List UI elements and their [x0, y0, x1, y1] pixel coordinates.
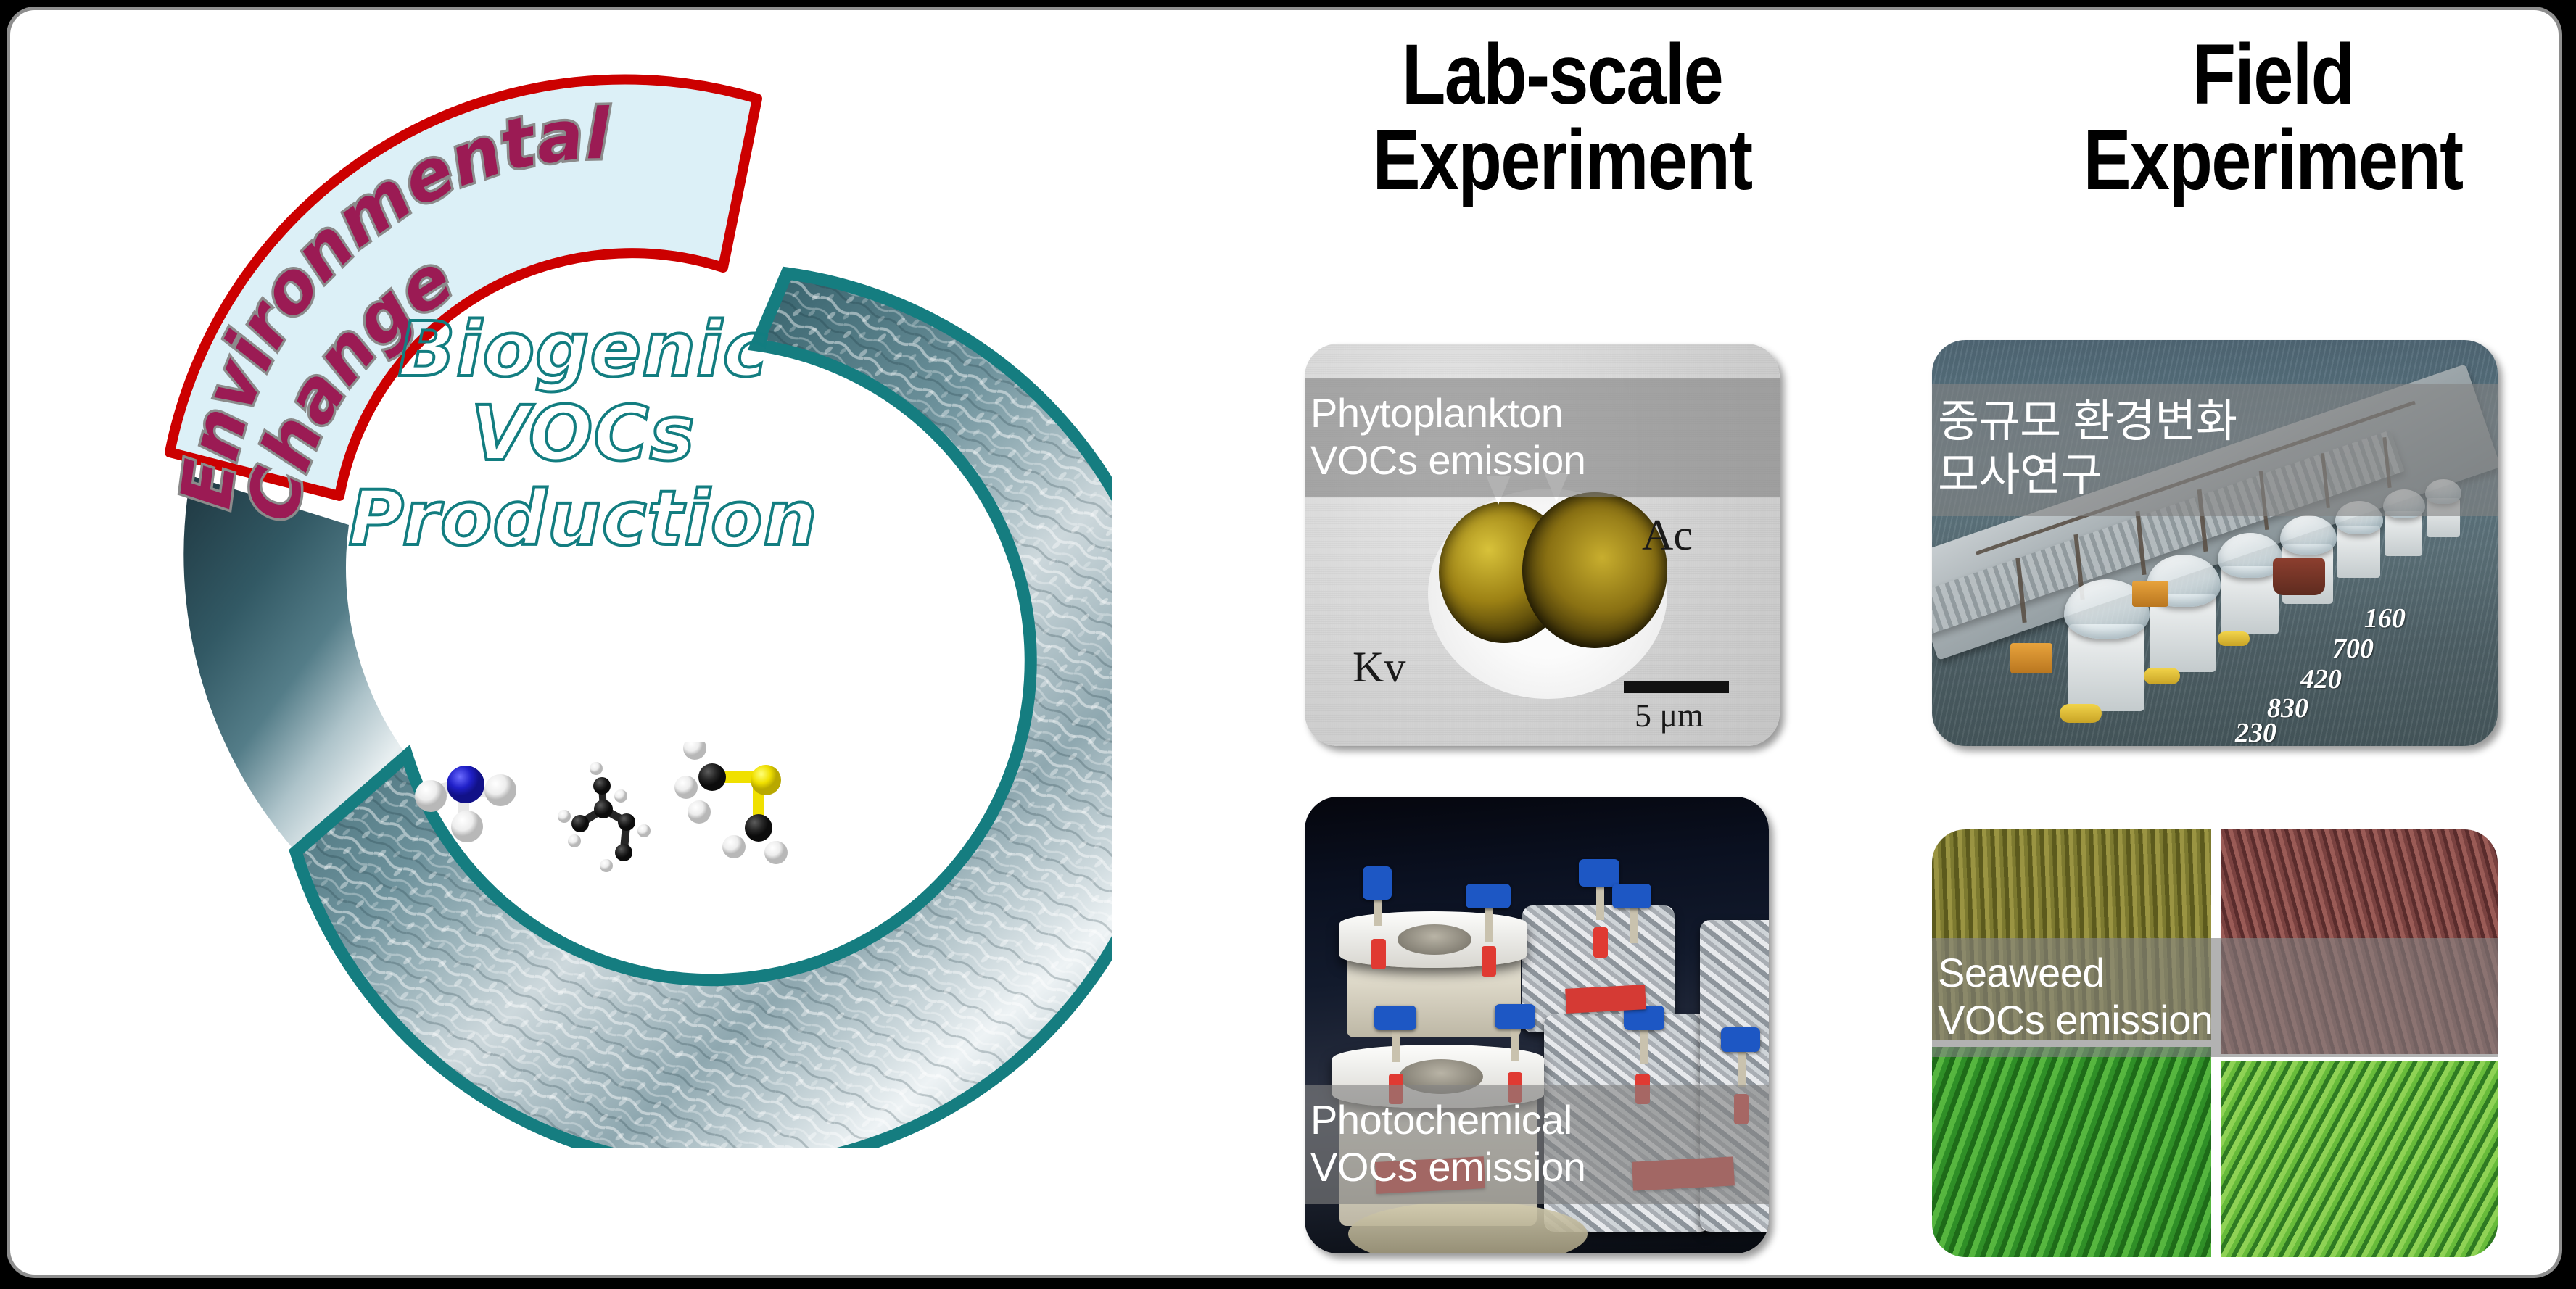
treatment-number: 610	[2202, 740, 2243, 746]
caption-line1: Phytoplankton	[1310, 390, 1780, 437]
valve-stem	[1640, 1027, 1648, 1064]
scale-bar	[1624, 681, 1729, 693]
valve-stem	[1596, 884, 1604, 920]
panel-phytoplankton[interactable]: Kv Ac 5 μm Phytoplankton VOCs emission	[1305, 344, 1780, 746]
red-fitting	[1371, 939, 1386, 969]
crate	[2010, 643, 2052, 673]
lab-title-line2: Experiment	[1233, 117, 1891, 203]
valve-stem	[1511, 1026, 1519, 1061]
lab-title-line1: Lab-scale	[1233, 32, 1891, 117]
molecule-group	[409, 742, 815, 895]
treatment-number: 160	[2364, 602, 2406, 634]
blue-valve	[1721, 1027, 1760, 1052]
caption-line1: Seaweed	[1938, 950, 2498, 997]
label-ac: Ac	[1642, 510, 1693, 560]
label-kv: Kv	[1353, 642, 1405, 692]
sample-label	[1565, 985, 1646, 1014]
treatment-number: 700	[2332, 633, 2374, 665]
caption-phytoplankton: Phytoplankton VOCs emission	[1305, 378, 1780, 497]
scale-bar-caption: 5 μm	[1635, 696, 1704, 734]
caption-line2: VOCs emission	[1310, 1144, 1769, 1191]
reactor-port	[1398, 924, 1471, 955]
caption-line1: 중규모 환경변화	[1938, 395, 2498, 449]
panel-mesocosm[interactable]: 160 700 420 830 230 610 690 290 790 ppmv…	[1932, 340, 2498, 746]
seaweed-photo-sea-lettuce	[1932, 1047, 2211, 1257]
blue-valve	[1612, 884, 1651, 908]
blue-valve	[1374, 1006, 1416, 1030]
seaweed-photo-green-mat	[2221, 1061, 2498, 1257]
caption-mesocosm: 중규모 환경변화 모사연구	[1932, 384, 2498, 516]
molecule-isoprene	[558, 762, 651, 872]
caption-line1: Photochemical	[1310, 1097, 1769, 1144]
caption-line2: VOCs emission	[1938, 997, 2498, 1044]
field-title-line2: Experiment	[1968, 117, 2559, 203]
panel-seaweed[interactable]: Seaweed VOCs emission	[1932, 829, 2498, 1257]
field-title-line1: Field	[1968, 32, 2559, 117]
valve-stem	[1630, 905, 1638, 943]
caption-line2: 모사연구	[1938, 449, 2498, 502]
caption-seaweed: Seaweed VOCs emission	[1932, 938, 2498, 1057]
valve-stem	[1392, 1027, 1400, 1062]
blue-valve	[1363, 866, 1392, 900]
valve-stem	[1485, 904, 1493, 942]
biogenic-vocs-cycle-diagram: Environmental Change Biogenic VOCs Produ…	[25, 17, 1112, 1148]
cycle-ring-graphic: Environmental Change	[25, 17, 1112, 1148]
blue-valve	[1579, 859, 1619, 887]
panel-photochemical[interactable]: Photochemical VOCs emission	[1305, 797, 1769, 1253]
float	[2144, 668, 2180, 684]
float	[2060, 704, 2102, 723]
crate	[2132, 581, 2168, 607]
red-fitting	[1482, 946, 1496, 977]
molecule-dimethyl-sulfide	[674, 742, 788, 864]
barrel	[2273, 558, 2325, 595]
poster-frame: Environmental Change Biogenic VOCs Produ…	[10, 10, 2559, 1275]
valve-stem	[1738, 1049, 1746, 1087]
caption-line2: VOCs emission	[1310, 437, 1780, 484]
blue-valve	[1466, 884, 1511, 908]
column-title-field: Field Experiment	[1968, 32, 2559, 203]
treatment-number: 420	[2300, 663, 2342, 695]
molecule-ammonia	[415, 766, 516, 842]
blue-valve	[1495, 1004, 1535, 1029]
float	[2218, 631, 2250, 646]
column-title-lab-scale: Lab-scale Experiment	[1233, 32, 1891, 203]
red-fitting	[1593, 927, 1608, 958]
caption-photochemical: Photochemical VOCs emission	[1305, 1085, 1769, 1204]
